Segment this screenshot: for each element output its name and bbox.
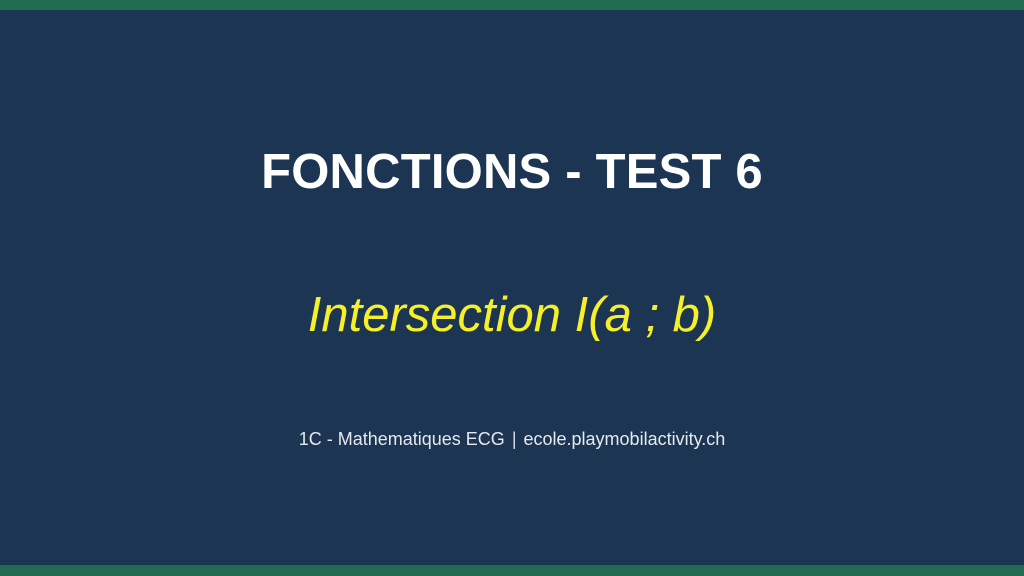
slide-content: FONCTIONS - TEST 6 Intersection I(a ; b)… (0, 0, 1024, 576)
bottom-accent-bar (0, 565, 1024, 576)
slide-canvas: FONCTIONS - TEST 6 Intersection I(a ; b)… (0, 0, 1024, 576)
page-title: FONCTIONS - TEST 6 (0, 146, 1024, 199)
footer-website-label: ecole.playmobilactivity.ch (524, 429, 726, 449)
slide-subtitle: Intersection I(a ; b) (0, 288, 1024, 343)
footer-separator: | (505, 428, 524, 451)
slide-footer: 1C - Mathematiques ECG|ecole.playmobilac… (0, 428, 1024, 451)
footer-course-label: 1C - Mathematiques ECG (299, 429, 505, 449)
